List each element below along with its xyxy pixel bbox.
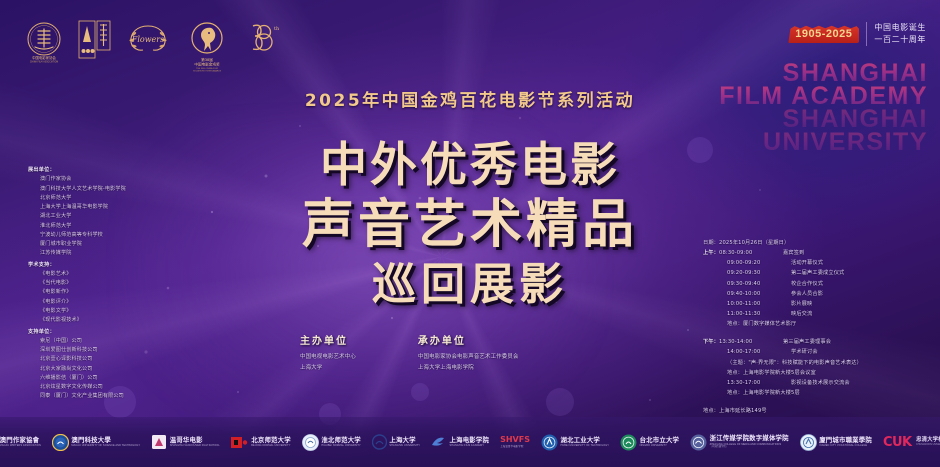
- row-time: 09:30-09:40: [727, 279, 791, 289]
- row-event: 学术研讨会: [791, 347, 931, 357]
- logo-subtitle: NINGBO UNIVERSITY: [640, 444, 680, 447]
- logo-title: CUK: [883, 436, 912, 449]
- schedule-date: 日期：2025年10月26日（星期日）: [703, 238, 931, 248]
- afternoon-venue-1: 地点：上海电影学院新大楼5层会议室: [703, 368, 931, 378]
- logo-subtitle: SHANGHAI FILM ACADEMY: [450, 444, 490, 447]
- list-item: 宁波幼儿师范高等专科学校: [28, 231, 188, 240]
- logo-title: 台北市立大学: [640, 437, 680, 444]
- row-event: 第三届声工委理事会: [783, 337, 931, 347]
- partner-logo-bar: 澳門作家協會MACAU WRITERS ASSOCIATION 澳門科技大學MA…: [0, 417, 940, 467]
- list-item: 北京师范大学: [28, 194, 188, 203]
- shvfs-logo: SHVFS 上海温哥华电影学院: [500, 432, 530, 452]
- svg-text:第38届: 第38届: [201, 57, 213, 62]
- schedule-row: 09:40-10:00 参会人员合影: [703, 289, 931, 299]
- list-item: 厦门城市职业学院: [28, 240, 188, 249]
- schedule-row: 14:00-17:00 学术研讨会: [703, 347, 931, 357]
- exhibiting-units-group: 展出单位： 澳门作家协会 澳门科技大学人文艺术学院-电影学院 北京师范大学 上海…: [28, 166, 188, 259]
- list-item: 上海大学上海温哥华电影学院: [28, 203, 188, 212]
- list-item: 湖北工业大学: [28, 212, 188, 221]
- university-seal-icon: [52, 434, 69, 451]
- huaibei-normal-university-logo: 淮北师范大学HUAIBEI NORMAL UNIVERSITY: [302, 432, 361, 452]
- list-item: 《当代电影》: [28, 279, 188, 288]
- logo-title: 廈門城市職業學院: [819, 437, 872, 444]
- row-event: 影视设备技术展示交流会: [791, 378, 931, 388]
- row-event: 第二届声工委成立仪式: [791, 268, 931, 278]
- logo-title: 淮北师范大学: [321, 437, 361, 444]
- film-wing-icon: [431, 434, 447, 450]
- badge-divider: [866, 22, 867, 46]
- logo-subtitle: HUBEI UNIVERSITY OF TECHNOLOGY: [560, 444, 609, 447]
- co-organizer-block: 承办单位 中国电影家协会电影声音艺术工作委员会 上海大学上海电影学院: [418, 332, 519, 373]
- shanghai-university-logo: 上海大学SHANGHAI UNIVERSITY: [372, 432, 420, 452]
- logo-title: SHVFS: [500, 436, 530, 445]
- shanghai-u-emblem-icon: [372, 434, 387, 450]
- anniversary-badge-group: 1905-2025 中国电影诞生 一百二十周年: [788, 22, 926, 46]
- host-unit-line: 中国电视电影艺术中心: [300, 352, 356, 363]
- golden-rooster-emblem-logo: 第38届 中国电影金鸡奖 THE 38th CHINA FILM GOLDEN …: [185, 20, 229, 77]
- schedule-row: 13:30-17:00 影视设备技术展示交流会: [703, 378, 931, 388]
- host-unit-block: 主办单位 中国电视电影艺术中心 上海大学: [300, 332, 356, 373]
- list-item: 《现代影视技术》: [28, 316, 188, 325]
- co-organizer-line: 中国电影家协会电影声音艺术工作委员会: [418, 352, 519, 363]
- schedule-row: 09:30-09:40 校企合作仪式: [703, 279, 931, 289]
- list-item: 北京壹心译影科技公司: [28, 355, 188, 364]
- schedule-row: 11:00-11:30 映后交流: [703, 309, 931, 319]
- list-item: 《电影艺术》: [28, 270, 188, 279]
- row-event: 活动开幕仪式: [791, 258, 931, 268]
- row-event: 映后交流: [791, 309, 931, 319]
- group-heading: 支持单位：: [28, 328, 188, 337]
- college-seal-icon: [690, 434, 707, 451]
- list-item: 北京大家融尚文化公司: [28, 365, 188, 374]
- china-film-association-logo: 中国电影家协会 CHINA FILM ASSOCIATION: [24, 20, 64, 69]
- flag-mark-icon: [231, 435, 249, 450]
- list-item: 北京炫星数字文化传媒公司: [28, 383, 188, 392]
- row-event: 参会人员合影: [791, 289, 931, 299]
- logo-subtitle: 上海温哥华电影学院: [500, 445, 530, 448]
- group-heading: 学术支持：: [28, 261, 188, 270]
- logo-title: 北京师范大学: [251, 437, 291, 444]
- logo-title: 上海电影学院: [450, 437, 490, 444]
- 38th-edition-logo: th: [243, 20, 279, 59]
- row-time: 09:40-10:00: [727, 289, 791, 299]
- logo-title: 浙江传媒学院数字媒体学院: [710, 435, 789, 442]
- anniversary-text: 中国电影诞生 一百二十周年: [874, 22, 926, 46]
- schedule-row: 上午： 08:30-09:00 嘉宾签到: [703, 248, 931, 258]
- film-strip-icon: [151, 434, 167, 450]
- svg-text:中国电影家协会: 中国电影家协会: [32, 55, 56, 60]
- hundred-flowers-laurel-logo: Flowers: [125, 20, 171, 59]
- logo-subtitle: MACAU UNIVERSITY OF SCIENCE AND TECHNOLO…: [71, 444, 140, 447]
- row-time: 08:30-09:00: [719, 248, 783, 258]
- logo-subtitle: HUAIBEI NORMAL UNIVERSITY: [321, 444, 361, 447]
- list-item: 六维播影佶（厦门）公司: [28, 374, 188, 383]
- svg-text:Flowers: Flowers: [131, 35, 164, 44]
- shanghai-vancouver-film-school-mark: 温哥华电影SHANGHAI VANCOUVER FILM SCHOOL: [151, 432, 220, 452]
- row-time: 10:00-11:00: [727, 299, 791, 309]
- row-time: 14:00-17:00: [727, 347, 791, 357]
- svg-text:GOLDEN ROOSTER AWARDS: GOLDEN ROOSTER AWARDS: [193, 69, 222, 72]
- list-item: 深圳爱图仕创新科技公司: [28, 346, 188, 355]
- event-series-subtitle: 2025年中国金鸡百花电影节系列活动: [0, 86, 940, 111]
- zhejiang-media-college-logo: 浙江传媒学院数字媒体学院 ZHEJIANG COLLEGE OF MEDIA A…: [690, 432, 789, 452]
- row-event: 影片展映: [791, 299, 931, 309]
- list-item: 《电影新作》: [28, 288, 188, 297]
- list-item: 索尼（中国）公司: [28, 337, 188, 346]
- schedule-spacer: [703, 398, 931, 406]
- hubei-university-of-technology-logo: 湖北工业大学HUBEI UNIVERSITY OF TECHNOLOGY: [541, 432, 609, 452]
- svg-text:th: th: [274, 26, 279, 32]
- svg-text:中国电影金鸡奖: 中国电影金鸡奖: [194, 62, 220, 67]
- afternoon-venue-2: 地点：上海电影学院新大楼5层: [703, 388, 931, 398]
- xiamen-city-vocational-college-logo: 廈門城市職業學院XIAMEN CITY VOCATIONAL COLLEGE: [800, 432, 872, 452]
- logo-subtitle: SHANGHAI UNIVERSITY: [389, 444, 420, 447]
- afternoon-label: 下午：: [703, 337, 719, 347]
- logo-title: 澳門科技大學: [71, 437, 140, 444]
- schedule-row: 下午： 13:30-14:00 第三届声工委理事会: [703, 337, 931, 347]
- row-time: 13:30-17:00: [727, 378, 791, 388]
- row-event: 校企合作仪式: [791, 279, 931, 289]
- logo-title: 上海大学: [389, 437, 420, 444]
- row-time: 11:00-11:30: [727, 309, 791, 319]
- host-unit-line: 上海大学: [300, 363, 356, 374]
- list-item: 同泰（厦门）文化产业集团有限公司: [28, 392, 188, 401]
- festival-logo-strip: 中国电影家协会 CHINA FILM ASSOCIATION: [24, 20, 279, 77]
- organizer-section: 主办单位 中国电视电影艺术中心 上海大学 承办单位 中国电影家协会电影声音艺术工…: [300, 332, 590, 373]
- list-item: 《电影文学》: [28, 307, 188, 316]
- afternoon-topic: （主题："声·界无限"：科技赋能下的电影声音艺术表达）: [703, 358, 931, 368]
- schedule-row: 09:20-09:30 第二届声工委成立仪式: [703, 268, 931, 278]
- academic-support-group: 学术支持： 《电影艺术》 《当代电影》 《电影新作》 《电影评介》 《电影文学》…: [28, 261, 188, 326]
- svg-text:CHINA FILM ASSOCIATION: CHINA FILM ASSOCIATION: [30, 61, 59, 64]
- logo-note: CHUNGWOON UNIVERSITY OF KOREA: [916, 444, 940, 447]
- row-time: 09:00-09:20: [727, 258, 791, 268]
- list-item: 江苏传媒学院: [28, 249, 188, 258]
- participating-units-column: 展出单位： 澳门作家协会 澳门科技大学人文艺术学院-电影学院 北京师范大学 上海…: [28, 166, 188, 404]
- logo-title: 湖北工业大学: [560, 437, 609, 444]
- college-seal-icon: [800, 434, 817, 451]
- event-schedule-panel: 日期：2025年10月26日（星期日） 上午： 08:30-09:00 嘉宾签到…: [703, 238, 931, 416]
- logo-note: （中国传媒学院）: [710, 446, 789, 449]
- university-seal-icon: [541, 434, 558, 451]
- poster-canvas: 中国电影家协会 CHINA FILM ASSOCIATION: [0, 0, 940, 467]
- host-unit-heading: 主办单位: [300, 332, 356, 347]
- anniversary-year-badge: 1905-2025: [788, 25, 859, 44]
- university-seal-icon: [302, 434, 319, 451]
- main-venue: 地点：上海市延长路149号: [703, 406, 931, 416]
- schedule-spacer: [703, 329, 931, 337]
- supporting-units-group: 支持单位： 索尼（中国）公司 深圳爱图仕创新科技公司 北京壹心译影科技公司 北京…: [28, 328, 188, 402]
- logo-subtitle: BEIJING NORMAL UNIVERSITY: [251, 444, 291, 447]
- schedule-row: 10:00-11:00 影片展映: [703, 299, 931, 309]
- list-item: 《电影评介》: [28, 298, 188, 307]
- row-time: 13:30-14:00: [719, 337, 783, 347]
- anniversary-line-1: 中国电影诞生: [874, 22, 926, 34]
- macau-writers-association-logo: 澳門作家協會MACAU WRITERS ASSOCIATION: [0, 432, 41, 452]
- ningbo-university-logo: 台北市立大学NINGBO UNIVERSITY: [620, 432, 679, 452]
- row-time: 09:20-09:30: [727, 268, 791, 278]
- co-organizer-heading: 承办单位: [418, 332, 519, 347]
- morning-venue: 地点：厦门数字媒体艺术影厅: [703, 319, 931, 329]
- morning-label: 上午：: [703, 248, 719, 258]
- list-item: 澳门科技大学人文艺术学院-电影学院: [28, 185, 188, 194]
- golden-rooster-award-logo: [78, 20, 111, 65]
- co-organizer-line: 上海大学上海电影学院: [418, 363, 519, 374]
- logo-subtitle: MACAU WRITERS ASSOCIATION: [0, 444, 41, 447]
- logo-title: 温哥华电影: [170, 437, 220, 444]
- list-item: 淮北师范大学: [28, 222, 188, 231]
- logo-subtitle: SHANGHAI VANCOUVER FILM SCHOOL: [170, 444, 220, 447]
- anniversary-line-2: 一百二十周年: [874, 34, 926, 46]
- list-item: 澳门作家协会: [28, 175, 188, 184]
- macau-university-of-science-technology-logo: 澳門科技大學MACAU UNIVERSITY OF SCIENCE AND TE…: [52, 432, 140, 452]
- schedule-row: 09:00-09:20 活动开幕仪式: [703, 258, 931, 268]
- group-heading: 展出单位：: [28, 166, 188, 175]
- logo-title: 澳門作家協會: [0, 437, 41, 444]
- shanghai-film-academy-logo: 上海电影学院SHANGHAI FILM ACADEMY: [431, 432, 489, 452]
- logo-subtitle: 忠清大学校: [916, 437, 940, 444]
- logo-subtitle: XIAMEN CITY VOCATIONAL COLLEGE: [819, 444, 872, 447]
- cuk-logo: CUK 忠清大学校 CHUNGWOON UNIVERSITY OF KOREA: [883, 432, 940, 452]
- university-seal-icon: [620, 434, 637, 451]
- beijing-normal-university-logo: 北京师范大学BEIJING NORMAL UNIVERSITY: [231, 432, 291, 452]
- row-event: 嘉宾签到: [783, 248, 931, 258]
